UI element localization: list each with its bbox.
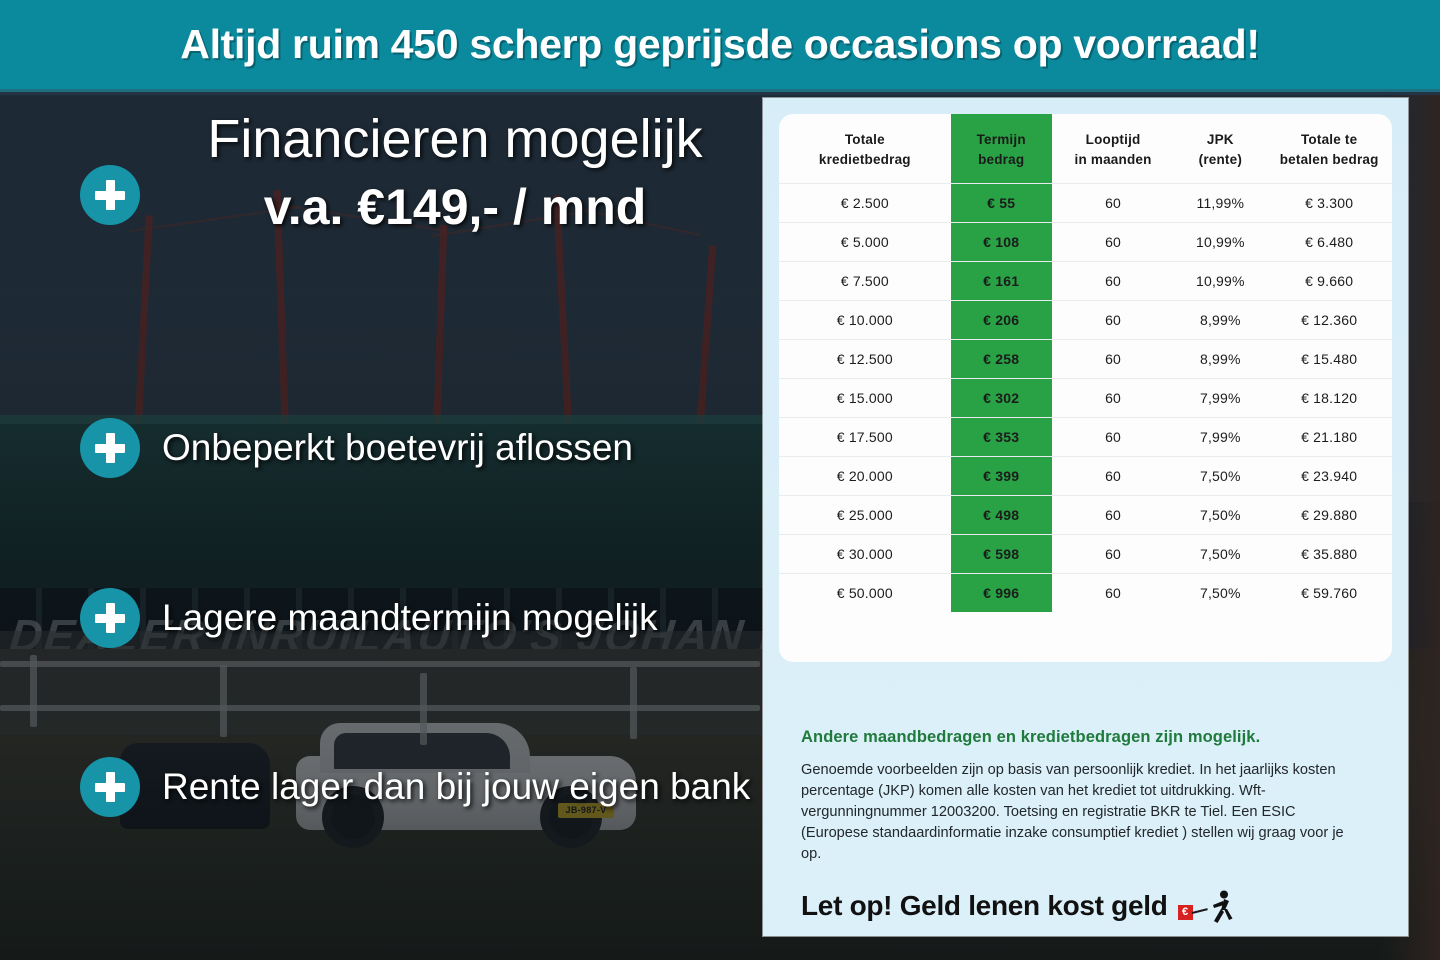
cell-termijn: € 258 bbox=[951, 340, 1052, 379]
finance-panel: Totale kredietbedrag Termijn bedrag Loop… bbox=[763, 98, 1408, 936]
table-row: € 5.000€ 1086010,99%€ 6.480 bbox=[779, 223, 1392, 262]
table-row: € 2.500€ 556011,99%€ 3.300 bbox=[779, 184, 1392, 223]
cell-krediet: € 50.000 bbox=[779, 574, 951, 613]
cell-krediet: € 12.500 bbox=[779, 340, 951, 379]
table-row: € 7.500€ 1616010,99%€ 9.660 bbox=[779, 262, 1392, 301]
cell-totaal: € 59.760 bbox=[1266, 574, 1392, 613]
table-row: € 30.000€ 598607,50%€ 35.880 bbox=[779, 535, 1392, 574]
afm-drag-line bbox=[1191, 908, 1207, 914]
column-header-looptijd: Looptijd in maanden bbox=[1052, 114, 1175, 184]
cell-looptijd: 60 bbox=[1052, 379, 1175, 418]
top-banner: Altijd ruim 450 scherp geprijsde occasio… bbox=[0, 0, 1440, 92]
cell-termijn: € 108 bbox=[951, 223, 1052, 262]
cell-jpk: 8,99% bbox=[1174, 301, 1266, 340]
warning-row: Let op! Geld lenen kost geld € bbox=[801, 888, 1234, 924]
cell-jpk: 7,99% bbox=[1174, 418, 1266, 457]
table-row: € 17.500€ 353607,99%€ 21.180 bbox=[779, 418, 1392, 457]
finance-table-body: € 2.500€ 556011,99%€ 3.300€ 5.000€ 10860… bbox=[779, 184, 1392, 613]
cell-krediet: € 2.500 bbox=[779, 184, 951, 223]
cell-jpk: 10,99% bbox=[1174, 223, 1266, 262]
header-line-1: Looptijd bbox=[1086, 132, 1141, 147]
cell-looptijd: 60 bbox=[1052, 262, 1175, 301]
advertisement-banner: Altijd ruim 450 scherp geprijsde occasio… bbox=[0, 0, 1440, 960]
cell-jpk: 7,50% bbox=[1174, 574, 1266, 613]
cell-looptijd: 60 bbox=[1052, 223, 1175, 262]
table-row: € 20.000€ 399607,50%€ 23.940 bbox=[779, 457, 1392, 496]
cell-jpk: 7,50% bbox=[1174, 496, 1266, 535]
cell-totaal: € 3.300 bbox=[1266, 184, 1392, 223]
feature-item: Rente lager dan bij jouw eigen bank bbox=[80, 757, 750, 817]
finance-table-head: Totale kredietbedrag Termijn bedrag Loop… bbox=[779, 114, 1392, 184]
cell-totaal: € 35.880 bbox=[1266, 535, 1392, 574]
cell-krediet: € 25.000 bbox=[779, 496, 951, 535]
column-header-jpk: JPK (rente) bbox=[1174, 114, 1266, 184]
header-line-2: (rente) bbox=[1199, 152, 1242, 167]
cell-termijn: € 302 bbox=[951, 379, 1052, 418]
cell-totaal: € 6.480 bbox=[1266, 223, 1392, 262]
top-banner-text: Altijd ruim 450 scherp geprijsde occasio… bbox=[180, 21, 1259, 68]
afm-walking-figure-icon bbox=[1208, 890, 1234, 924]
cell-termijn: € 498 bbox=[951, 496, 1052, 535]
cell-termijn: € 996 bbox=[951, 574, 1052, 613]
cell-looptijd: 60 bbox=[1052, 535, 1175, 574]
warning-text: Let op! Geld lenen kost geld bbox=[801, 890, 1168, 922]
cell-totaal: € 15.480 bbox=[1266, 340, 1392, 379]
left-content: Financieren mogelijk v.a. €149,- / mnd O… bbox=[0, 95, 770, 960]
note-body: Genoemde voorbeelden zijn op basis van p… bbox=[801, 760, 1361, 865]
headline-line-2: v.a. €149,- / mnd bbox=[150, 177, 760, 237]
cell-termijn: € 206 bbox=[951, 301, 1052, 340]
header-line-2: bedrag bbox=[978, 152, 1024, 167]
plus-icon bbox=[80, 757, 140, 817]
header-line-2: kredietbedrag bbox=[819, 152, 911, 167]
headline-line-1: Financieren mogelijk bbox=[150, 110, 760, 169]
finance-table-card: Totale kredietbedrag Termijn bedrag Loop… bbox=[779, 114, 1392, 662]
cell-looptijd: 60 bbox=[1052, 340, 1175, 379]
finance-table: Totale kredietbedrag Termijn bedrag Loop… bbox=[779, 114, 1392, 612]
cell-krediet: € 15.000 bbox=[779, 379, 951, 418]
header-line-1: Termijn bbox=[977, 132, 1026, 147]
cell-looptijd: 60 bbox=[1052, 496, 1175, 535]
table-row: € 50.000€ 996607,50%€ 59.760 bbox=[779, 574, 1392, 613]
cell-termijn: € 161 bbox=[951, 262, 1052, 301]
feature-item: Lagere maandtermijn mogelijk bbox=[80, 588, 658, 648]
header-line-1: Totale te bbox=[1301, 132, 1357, 147]
header-line-2: betalen bedrag bbox=[1280, 152, 1379, 167]
cell-krediet: € 10.000 bbox=[779, 301, 951, 340]
cell-jpk: 7,99% bbox=[1174, 379, 1266, 418]
cell-looptijd: 60 bbox=[1052, 457, 1175, 496]
cell-termijn: € 598 bbox=[951, 535, 1052, 574]
cell-jpk: 10,99% bbox=[1174, 262, 1266, 301]
feature-label: Rente lager dan bij jouw eigen bank bbox=[162, 766, 750, 808]
cell-jpk: 7,50% bbox=[1174, 457, 1266, 496]
plus-icon bbox=[80, 418, 140, 478]
header-line-1: JPK bbox=[1207, 132, 1234, 147]
cell-krediet: € 5.000 bbox=[779, 223, 951, 262]
column-header-krediet: Totale kredietbedrag bbox=[779, 114, 951, 184]
table-row: € 15.000€ 302607,99%€ 18.120 bbox=[779, 379, 1392, 418]
cell-totaal: € 9.660 bbox=[1266, 262, 1392, 301]
cell-krediet: € 17.500 bbox=[779, 418, 951, 457]
afm-money-warning-icon: € bbox=[1178, 888, 1234, 924]
cell-termijn: € 399 bbox=[951, 457, 1052, 496]
cell-looptijd: 60 bbox=[1052, 184, 1175, 223]
column-header-totaal: Totale te betalen bedrag bbox=[1266, 114, 1392, 184]
cell-krediet: € 30.000 bbox=[779, 535, 951, 574]
cell-jpk: 11,99% bbox=[1174, 184, 1266, 223]
cell-totaal: € 29.880 bbox=[1266, 496, 1392, 535]
cell-looptijd: 60 bbox=[1052, 574, 1175, 613]
table-row: € 10.000€ 206608,99%€ 12.360 bbox=[779, 301, 1392, 340]
cell-looptijd: 60 bbox=[1052, 301, 1175, 340]
feature-label: Onbeperkt boetevrij aflossen bbox=[162, 427, 633, 469]
cell-totaal: € 21.180 bbox=[1266, 418, 1392, 457]
cell-krediet: € 7.500 bbox=[779, 262, 951, 301]
cell-jpk: 8,99% bbox=[1174, 340, 1266, 379]
cell-termijn: € 55 bbox=[951, 184, 1052, 223]
feature-item: Onbeperkt boetevrij aflossen bbox=[80, 418, 633, 478]
plus-icon bbox=[80, 588, 140, 648]
table-row: € 25.000€ 498607,50%€ 29.880 bbox=[779, 496, 1392, 535]
plus-icon bbox=[80, 165, 140, 225]
note-title: Andere maandbedragen en kredietbedragen … bbox=[801, 728, 1260, 747]
cell-jpk: 7,50% bbox=[1174, 535, 1266, 574]
feature-label: Lagere maandtermijn mogelijk bbox=[162, 597, 658, 639]
header-line-2: in maanden bbox=[1075, 152, 1152, 167]
cell-krediet: € 20.000 bbox=[779, 457, 951, 496]
cell-looptijd: 60 bbox=[1052, 418, 1175, 457]
headline-block: Financieren mogelijk v.a. €149,- / mnd bbox=[150, 110, 760, 237]
column-header-termijn: Termijn bedrag bbox=[951, 114, 1052, 184]
cell-termijn: € 353 bbox=[951, 418, 1052, 457]
table-row: € 12.500€ 258608,99%€ 15.480 bbox=[779, 340, 1392, 379]
cell-totaal: € 18.120 bbox=[1266, 379, 1392, 418]
header-line-1: Totale bbox=[845, 132, 885, 147]
cell-totaal: € 23.940 bbox=[1266, 457, 1392, 496]
table-header-row: Totale kredietbedrag Termijn bedrag Loop… bbox=[779, 114, 1392, 184]
afm-euro-block: € bbox=[1178, 905, 1193, 920]
cell-totaal: € 12.360 bbox=[1266, 301, 1392, 340]
